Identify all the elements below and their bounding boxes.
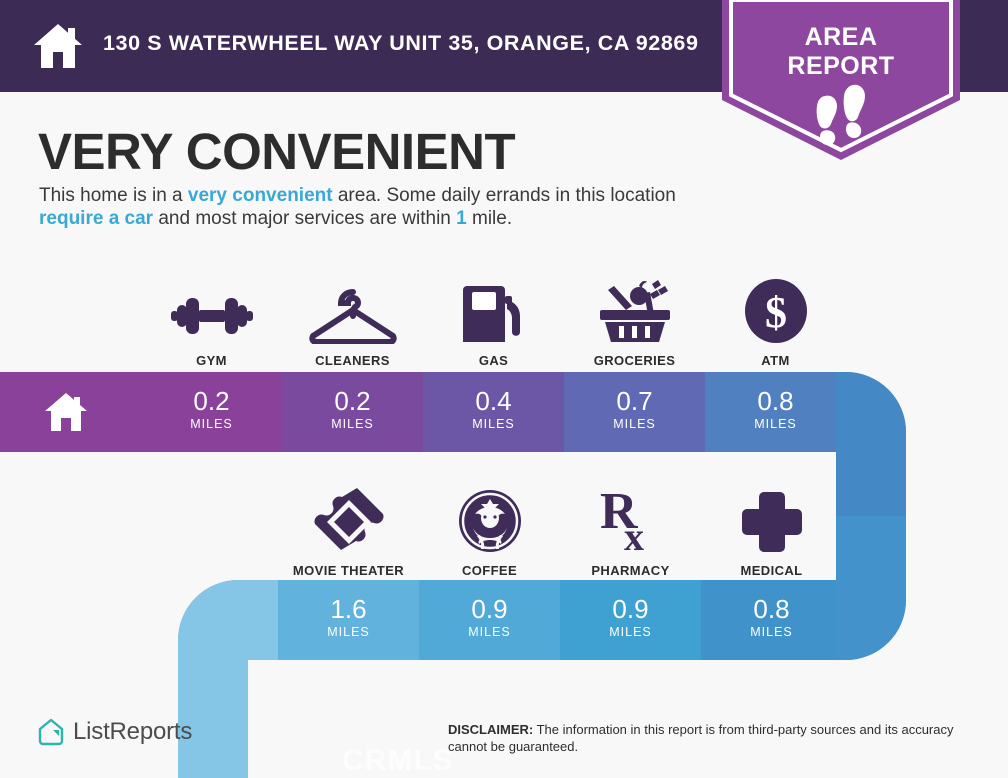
disclaimer-label: DISCLAIMER: [448, 722, 533, 737]
distance-value: 0.9 [419, 594, 560, 624]
distance-unit: MILES [560, 625, 701, 639]
listreports-house-icon [38, 718, 64, 746]
amenity-atm: $ ATM [705, 272, 846, 368]
bar-elbow-right-top [836, 372, 906, 516]
distance-unit: MILES [282, 417, 423, 431]
dumbbell-icon [141, 272, 282, 344]
dollar-icon: $ [705, 272, 846, 344]
amenity-label: COFFEE [419, 563, 560, 578]
svg-text:x: x [624, 514, 644, 554]
summary-part-3: and most major services are within [153, 208, 456, 229]
summary-text: This home is in a very convenient area. … [39, 184, 719, 230]
crmls-watermark: CRMLS [342, 744, 454, 778]
distance-value: 1.6 [278, 594, 419, 624]
distance-movie-theater: 1.6 MILES [278, 594, 419, 639]
listreports-logo-text: ListReports [73, 718, 192, 746]
area-report-badge: AREA REPORT [722, 0, 960, 160]
amenity-movie-theater: MOVIE THEATER [278, 482, 419, 578]
summary-part-1: This home is in a [39, 185, 188, 206]
listreports-logo: ListReports [38, 718, 192, 746]
amenity-pharmacy: R x PHARMACY [560, 482, 701, 578]
summary-highlight-1: very convenient [188, 185, 333, 206]
medical-icon [701, 482, 842, 554]
distance-value: 0.8 [701, 594, 842, 624]
coffee-icon [419, 482, 560, 554]
distance-value: 0.9 [560, 594, 701, 624]
badge-line-2: REPORT [787, 52, 894, 80]
distance-value: 0.8 [705, 386, 846, 416]
distance-value: 0.7 [564, 386, 705, 416]
distance-gym: 0.2 MILES [141, 386, 282, 431]
badge-title: AREA REPORT [722, 23, 960, 81]
distance-medical: 0.8 MILES [701, 594, 842, 639]
hanger-icon [282, 272, 423, 344]
gas-pump-icon [423, 272, 564, 344]
distance-unit: MILES [423, 417, 564, 431]
distance-unit: MILES [705, 417, 846, 431]
svg-text:$: $ [765, 288, 787, 337]
rx-icon: R x [560, 482, 701, 554]
home-icon-bar [44, 392, 88, 432]
ticket-icon [278, 482, 419, 554]
amenity-label: MEDICAL [701, 563, 842, 578]
bar-tail-left [178, 580, 278, 778]
area-report-page: 130 S WATERWHEEL WAY UNIT 35, ORANGE, CA… [0, 0, 1008, 778]
distance-gas: 0.4 MILES [423, 386, 564, 431]
amenity-gas: GAS [423, 272, 564, 368]
home-icon [32, 22, 84, 70]
distance-unit: MILES [278, 625, 419, 639]
amenity-label: GYM [141, 353, 282, 368]
distance-value: 0.2 [282, 386, 423, 416]
summary-highlight-2: require a car [39, 208, 153, 229]
distance-unit: MILES [564, 417, 705, 431]
distance-pharmacy: 0.9 MILES [560, 594, 701, 639]
summary-highlight-3: 1 [456, 208, 467, 229]
distance-value: 0.2 [141, 386, 282, 416]
distance-value: 0.4 [423, 386, 564, 416]
distance-unit: MILES [141, 417, 282, 431]
amenity-groceries: GROCERIES [564, 272, 705, 368]
summary-part-4: mile. [467, 208, 512, 229]
amenity-label: PHARMACY [560, 563, 701, 578]
badge-line-1: AREA [805, 23, 878, 51]
distance-cleaners: 0.2 MILES [282, 386, 423, 431]
amenity-coffee: COFFEE [419, 482, 560, 578]
amenity-label: CLEANERS [282, 353, 423, 368]
amenity-cleaners: CLEANERS [282, 272, 423, 368]
amenity-label: GROCERIES [564, 353, 705, 368]
amenity-label: ATM [705, 353, 846, 368]
disclaimer: DISCLAIMER: The information in this repo… [448, 722, 988, 755]
distance-coffee: 0.9 MILES [419, 594, 560, 639]
amenity-label: GAS [423, 353, 564, 368]
distance-groceries: 0.7 MILES [564, 386, 705, 431]
distance-unit: MILES [701, 625, 842, 639]
amenity-medical: MEDICAL [701, 482, 842, 578]
summary-part-2: area. Some daily errands in this locatio… [333, 185, 676, 206]
amenity-gym: GYM [141, 272, 282, 368]
bar-elbow-right-bottom [836, 516, 906, 660]
basket-icon [564, 272, 705, 344]
property-address: 130 S WATERWHEEL WAY UNIT 35, ORANGE, CA… [103, 31, 699, 56]
page-title: VERY CONVENIENT [38, 122, 515, 181]
amenity-label: MOVIE THEATER [278, 563, 419, 578]
distance-atm: 0.8 MILES [705, 386, 846, 431]
distance-unit: MILES [419, 625, 560, 639]
